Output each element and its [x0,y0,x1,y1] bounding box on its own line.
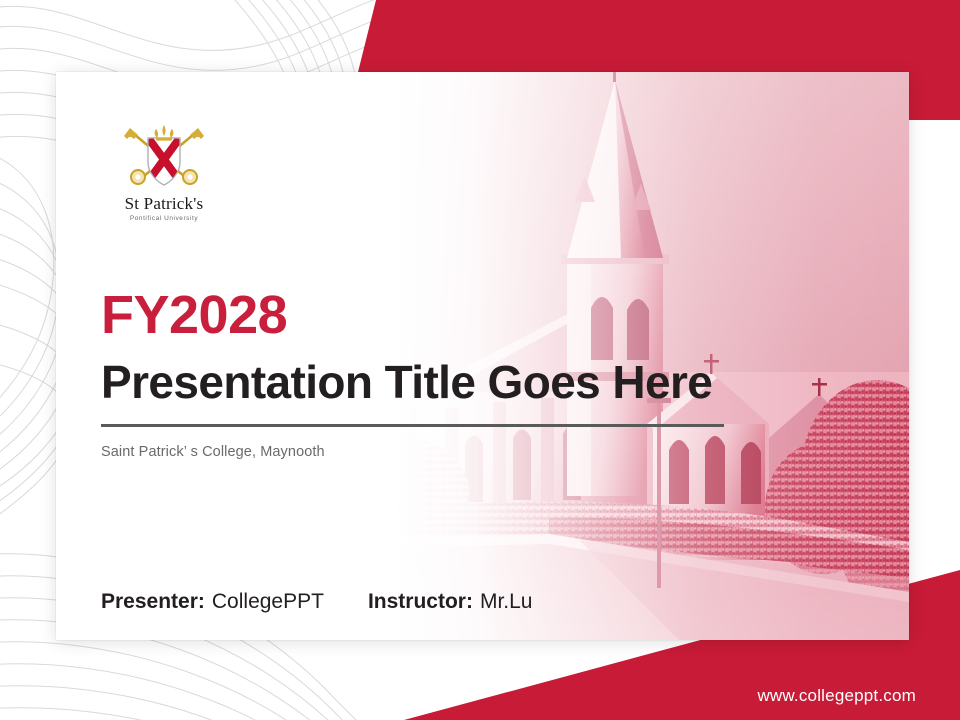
presenter-pair: Presenter: CollegePPT [101,590,324,614]
fiscal-year-eyebrow: FY2028 [101,288,724,342]
logo-name: St Patrick's [104,195,224,213]
title-block: FY2028 Presentation Title Goes Here Sain… [101,288,724,460]
institution-subtitle: Saint Patrick’ s College, Maynooth [101,444,724,460]
slide-canvas: St Patrick's Pontifical University FY202… [0,0,960,720]
title-divider [101,424,724,427]
st-patricks-crest-icon [104,122,224,194]
presenter-label: Presenter: [101,590,205,614]
instructor-pair: Instructor: Mr.Lu [368,590,533,614]
logo-subtitle: Pontifical University [104,215,224,222]
meta-row: Presenter: CollegePPT Instructor: Mr.Lu [101,590,532,614]
page-title: Presentation Title Goes Here [101,358,724,406]
presenter-value: CollegePPT [212,590,324,614]
instructor-value: Mr.Lu [480,590,533,614]
instructor-label: Instructor: [368,590,473,614]
university-logo: St Patrick's Pontifical University [104,122,224,222]
footer-url: www.collegeppt.com [757,686,916,706]
